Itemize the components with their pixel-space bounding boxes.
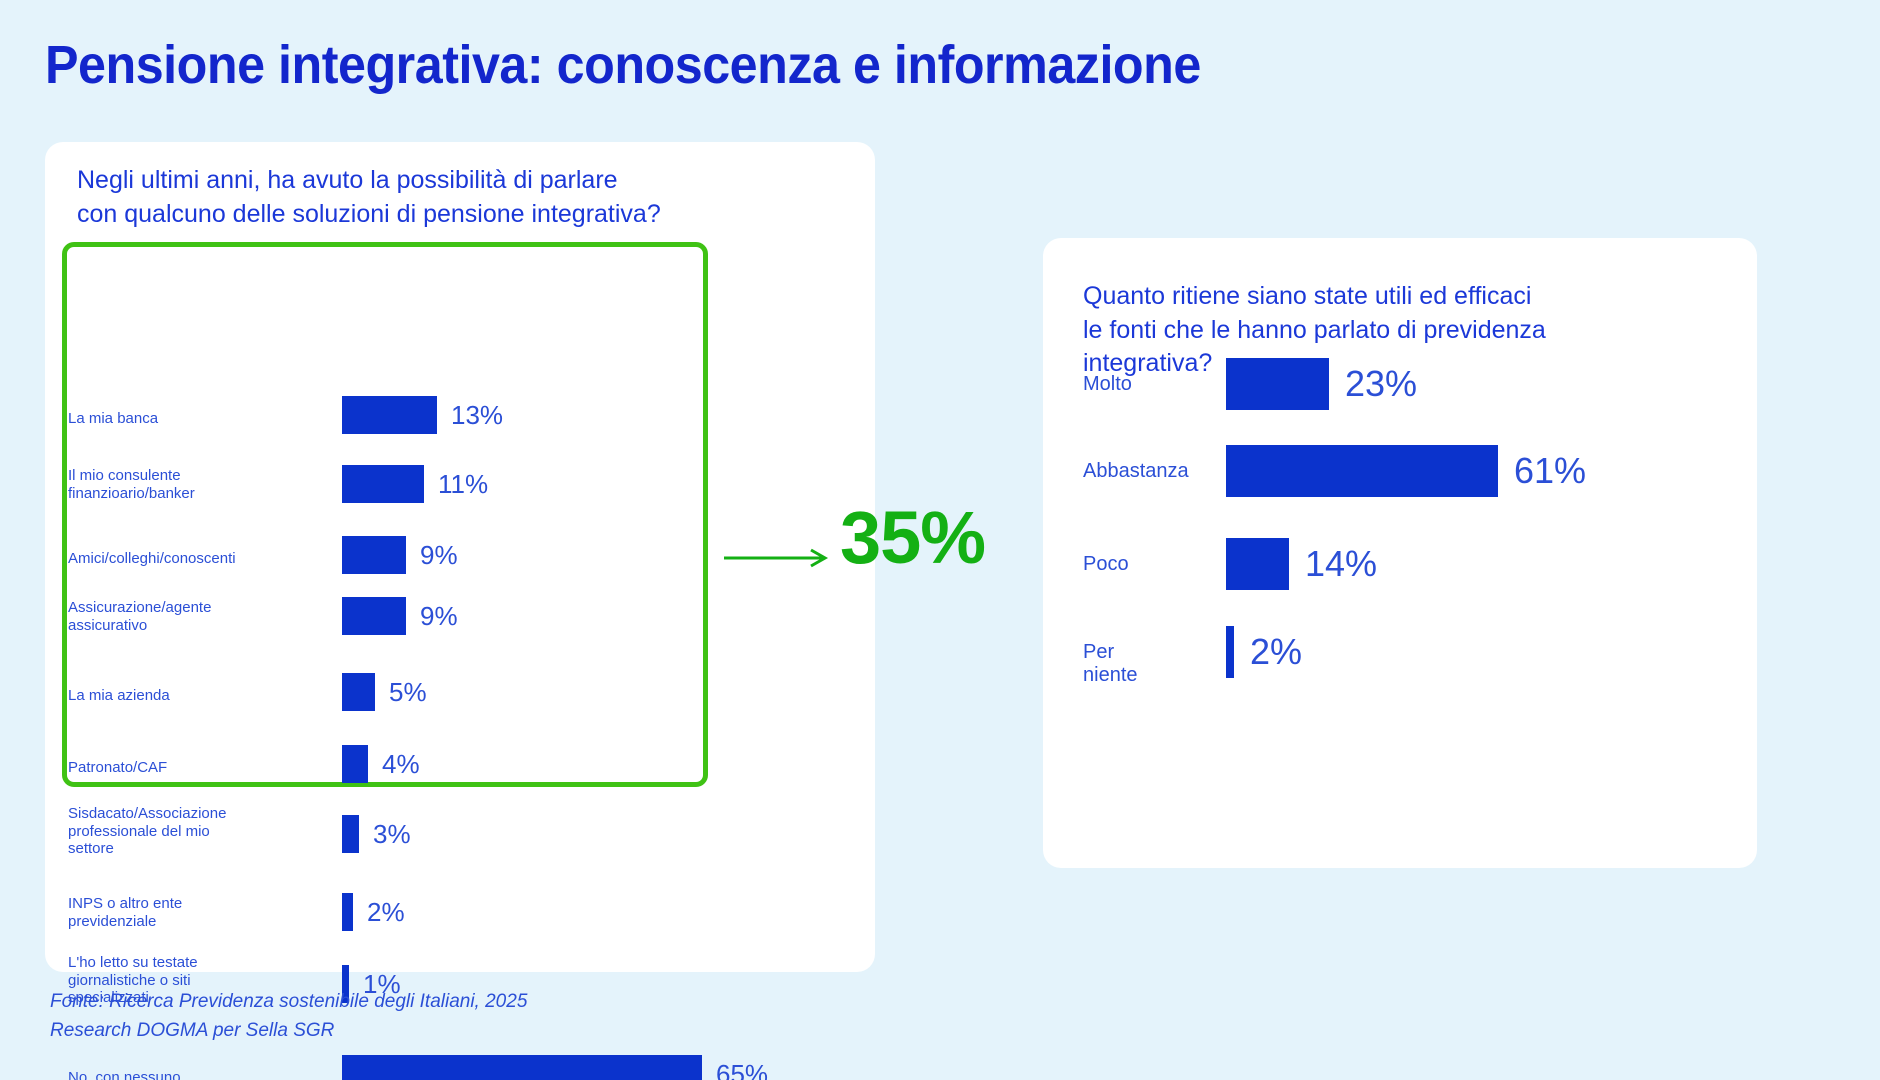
left-panel-question: Negli ultimi anni, ha avuto la possibili… xyxy=(77,164,847,231)
source-note: Fonte: Ricerca Previdenza sostenibile de… xyxy=(50,988,527,1045)
bar-fill xyxy=(342,815,359,853)
bar-label: Molto xyxy=(1083,373,1132,396)
bar-value-label: 11% xyxy=(438,469,488,500)
bar-label: Abbastanza xyxy=(1083,460,1189,483)
right-question-line-1: Quanto ritiene siano state utili ed effi… xyxy=(1083,280,1703,314)
bar-label: Amici/colleghi/conoscenti xyxy=(68,550,298,568)
left-question-line-1: Negli ultimi anni, ha avuto la possibili… xyxy=(77,164,847,198)
bar-fill xyxy=(342,1055,702,1080)
bar-fill xyxy=(342,745,368,783)
bar-label: Assicurazione/agenteassicurativo xyxy=(68,599,298,634)
bar-value-label: 65% xyxy=(716,1059,768,1080)
bar-label: Patronato/CAF xyxy=(68,759,298,777)
right-panel-card: Quanto ritiene siano state utili ed effi… xyxy=(1043,238,1757,868)
bar-label: Poco xyxy=(1083,553,1129,576)
bar-fill xyxy=(342,673,375,711)
bar-fill xyxy=(342,465,424,503)
bar-fill xyxy=(1226,358,1329,410)
bar-value-label: 2% xyxy=(367,897,405,928)
bar-label: La mia banca xyxy=(68,410,298,428)
bar-fill xyxy=(342,536,406,574)
right-arrow-icon xyxy=(723,548,831,568)
right-question-line-2: le fonti che le hanno parlato di previde… xyxy=(1083,314,1703,348)
bar-fill xyxy=(342,893,353,931)
bar-fill xyxy=(1226,626,1234,678)
bar-fill xyxy=(1226,445,1498,497)
left-question-line-2: con qualcuno delle soluzioni di pensione… xyxy=(77,198,847,232)
bar-label: La mia azienda xyxy=(68,687,298,705)
bar-label: Per niente xyxy=(1083,641,1137,687)
bar-value-label: 3% xyxy=(373,819,411,850)
bar-fill xyxy=(1226,538,1289,590)
bar-label: No, con nessuno xyxy=(68,1069,298,1080)
bar-value-label: 14% xyxy=(1305,543,1377,585)
bar-value-label: 5% xyxy=(389,677,427,708)
source-line-1: Fonte: Ricerca Previdenza sostenibile de… xyxy=(50,988,527,1017)
bar-value-label: 9% xyxy=(420,540,458,571)
bar-value-label: 61% xyxy=(1514,450,1586,492)
bar-label: Sisdacato/Associazioneprofessionale del … xyxy=(68,805,298,858)
callout-value: 35% xyxy=(840,495,985,580)
highlight-box-green xyxy=(62,242,708,787)
infographic-page: Pensione integrativa: conoscenza e infor… xyxy=(0,0,1880,1080)
bar-fill xyxy=(342,396,437,434)
bar-fill xyxy=(342,597,406,635)
bar-label: INPS o altro enteprevidenziale xyxy=(68,895,298,930)
source-line-2: Research DOGMA per Sella SGR xyxy=(50,1017,527,1046)
bar-label: Il mio consulentefinanzioario/banker xyxy=(68,467,298,502)
bar-value-label: 4% xyxy=(382,749,420,780)
bar-value-label: 23% xyxy=(1345,363,1417,405)
bar-value-label: 2% xyxy=(1250,631,1302,673)
bar-value-label: 13% xyxy=(451,400,503,431)
bar-value-label: 9% xyxy=(420,601,458,632)
page-title: Pensione integrativa: conoscenza e infor… xyxy=(45,34,1201,96)
